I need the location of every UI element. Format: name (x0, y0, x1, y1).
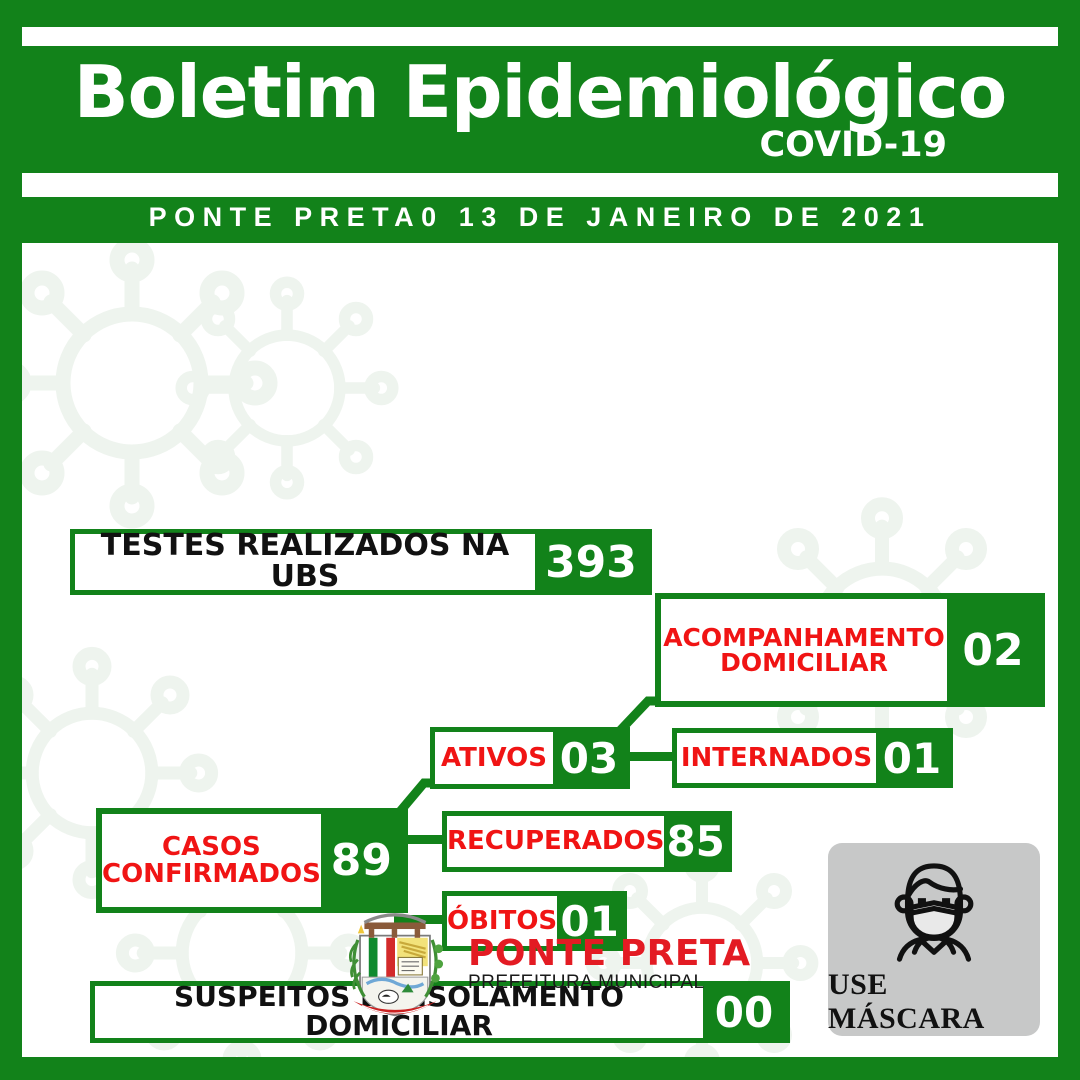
stat-label: INTERNADOS (677, 733, 876, 783)
stat-acompanhamento-domiciliar[interactable]: ACOMPANHAMENTO DOMICILIAR 02 (655, 593, 1045, 707)
stat-label: ATIVOS (435, 732, 553, 784)
stat-recuperados[interactable]: RECUPERADOS 85 (442, 811, 732, 872)
stat-label: RECUPERADOS (447, 816, 664, 867)
logo-municipality-name: PONTE PRETA (468, 935, 751, 973)
use-mask-badge: USE MÁSCARA (828, 843, 1040, 1036)
stat-label: ACOMPANHAMENTO DOMICILIAR (661, 599, 947, 701)
content-panel: TESTES REALIZADOS NA UBS 393 ACOMPANHAME… (22, 243, 1058, 1057)
municipal-logo: PONTE PRETA PREFEITURA MUNICIPAL (340, 905, 751, 1023)
stat-value: 01 (876, 733, 948, 783)
stat-value: 85 (664, 816, 727, 867)
epidemiological-bulletin-poster: Boletim Epidemiológico COVID-19 PONTE PR… (0, 0, 1080, 1080)
page-subtitle: COVID-19 (759, 128, 947, 163)
stat-internados[interactable]: INTERNADOS 01 (672, 728, 953, 788)
stat-value: 89 (321, 814, 402, 907)
coat-of-arms-icon (340, 905, 450, 1023)
stat-label: CASOS CONFIRMADOS (102, 814, 321, 907)
stat-casos-confirmados[interactable]: CASOS CONFIRMADOS 89 (96, 808, 408, 913)
stat-ativos[interactable]: ATIVOS 03 (430, 727, 630, 789)
dateline: PONTE PRETA0 13 DE JANEIRO DE 2021 (0, 204, 1080, 231)
stat-value: 03 (553, 732, 625, 784)
stat-value: 393 (535, 534, 647, 590)
mask-caption: USE MÁSCARA (828, 968, 1040, 1036)
masked-person-icon (868, 851, 1000, 966)
stat-testes-realizados[interactable]: TESTES REALIZADOS NA UBS 393 (70, 529, 652, 595)
logo-subtitle: PREFEITURA MUNICIPAL (468, 973, 751, 993)
virus-icon (22, 243, 282, 533)
header-bottom-rule (22, 173, 1058, 197)
stat-label: TESTES REALIZADOS NA UBS (75, 534, 535, 590)
virus-icon (172, 273, 402, 503)
stat-value: 02 (947, 599, 1039, 701)
header-top-rule (22, 27, 1058, 46)
page-title: Boletim Epidemiológico (0, 56, 1080, 128)
